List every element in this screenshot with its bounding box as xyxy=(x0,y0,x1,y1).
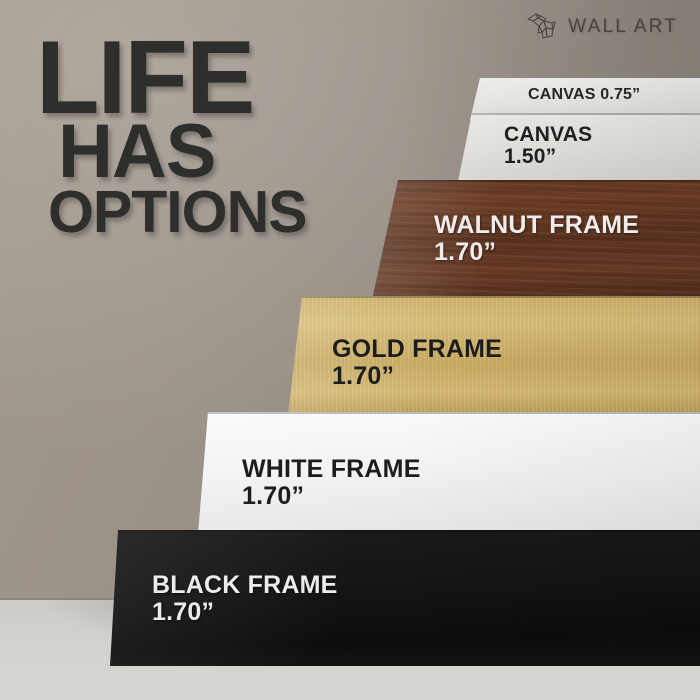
option-label-canvas-150: CANVAS 1.50” xyxy=(504,124,592,169)
brand-name: WALL ART xyxy=(568,16,678,38)
option-slab-white-frame[interactable]: WHITE FRAME 1.70” xyxy=(198,412,700,534)
option-label-white-frame: WHITE FRAME 1.70” xyxy=(242,456,421,509)
page-title: LIFE HAS OPTIONS xyxy=(36,34,436,238)
brand-logo[interactable]: WALL ART xyxy=(525,12,678,42)
origami-goat-icon xyxy=(525,12,559,42)
option-slab-canvas-150[interactable]: CANVAS 1.50” xyxy=(458,113,700,181)
option-label-gold-frame: GOLD FRAME 1.70” xyxy=(332,336,502,389)
option-slab-black-frame[interactable]: BLACK FRAME 1.70” xyxy=(110,530,700,666)
option-label-canvas-075: CANVAS 0.75” xyxy=(528,87,640,104)
option-slab-gold-frame[interactable]: GOLD FRAME 1.70” xyxy=(288,296,700,416)
option-label-walnut-frame: WALNUT FRAME 1.70” xyxy=(434,212,639,265)
product-options-poster: LIFE HAS OPTIONS WALL ART CANVAS 0.75” xyxy=(0,0,700,700)
headline-line-3: OPTIONS xyxy=(36,187,436,238)
option-label-black-frame: BLACK FRAME 1.70” xyxy=(152,572,338,625)
option-slab-walnut-frame[interactable]: WALNUT FRAME 1.70” xyxy=(372,180,700,300)
